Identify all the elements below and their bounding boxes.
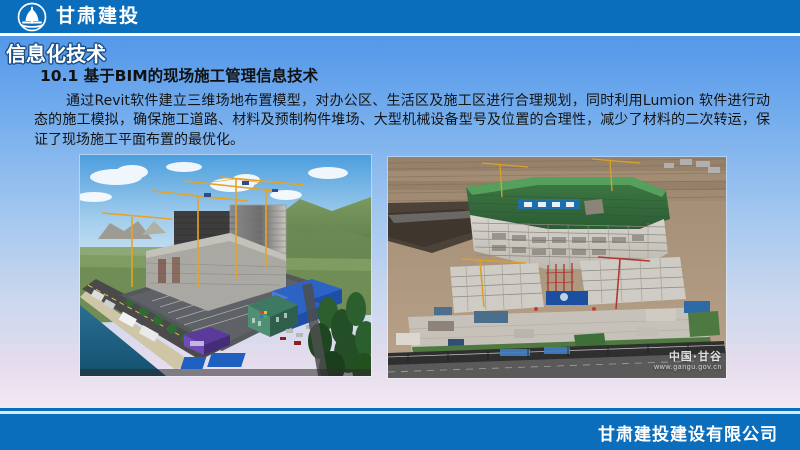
brand-title: 甘肃建投 <box>56 3 140 30</box>
bim-site-layout-3d-rendering <box>80 155 371 376</box>
construction-site-aerial-photo: 中国·甘谷 www.gangu.gov.cn <box>388 157 726 378</box>
footer-company-name: 甘肃建投建设有限公司 <box>598 420 778 445</box>
header-divider <box>0 33 800 36</box>
top-header-bar: 甘肃建投 <box>0 0 800 33</box>
section-heading: 10.1 基于BIM的现场施工管理信息技术 <box>40 64 318 86</box>
slide-canvas: 甘肃建投 信息化技术 10.1 基于BIM的现场施工管理信息技术 通过Revit… <box>0 0 800 450</box>
body-paragraph: 通过Revit软件建立三维场地布置模型，对办公区、生活区及施工区进行合理规划，同… <box>34 92 770 150</box>
page-title: 信息化技术 <box>6 38 106 67</box>
gansu-construction-logo-icon <box>17 2 47 32</box>
